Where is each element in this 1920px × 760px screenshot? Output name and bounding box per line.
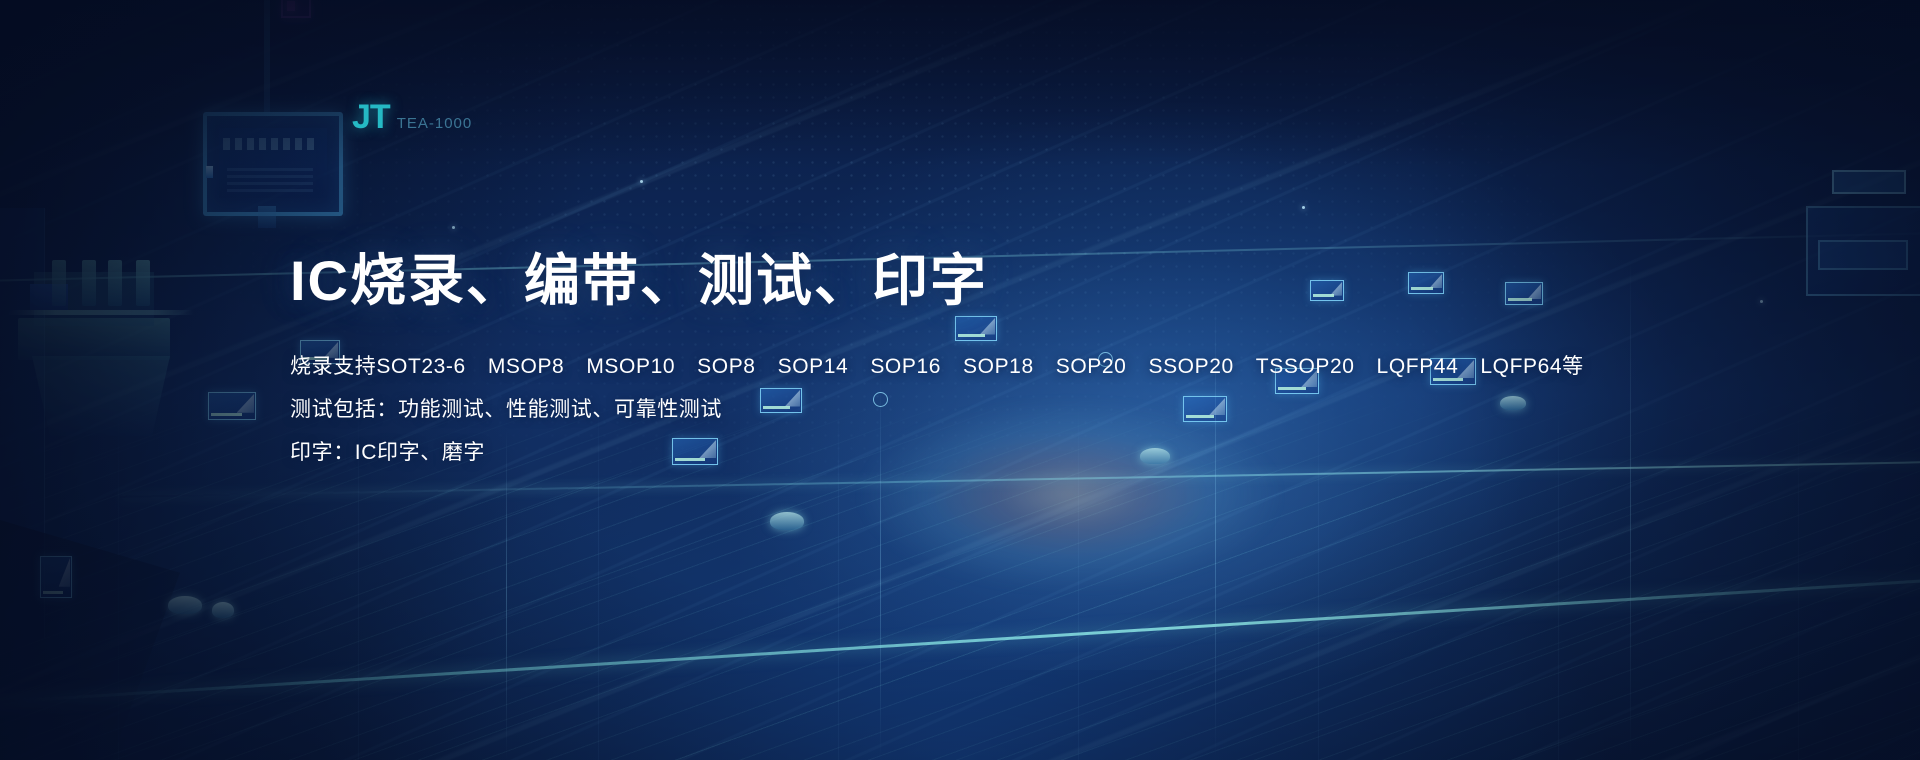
package-name: SOP20 [1056,355,1127,378]
hero-banner: JT TEA-1000 IC烧录、编带、测试、印字 烧录支持SOT23-6MSO… [0,0,1920,760]
floor-mount-pad [770,512,804,530]
machine-base [18,318,170,360]
spark-dot [452,226,455,229]
spark-dot [640,180,643,183]
logo-mark-jt: JT [352,100,390,134]
package-name: MSOP10 [586,355,675,378]
monitor-stand [258,206,276,228]
rack-device-bottom [1818,240,1908,270]
monitor-scanlines [227,168,313,194]
package-name: MSOP8 [488,355,565,378]
machine-cylinder-2 [82,260,96,306]
monitor-bar-graph [223,138,319,150]
sensor-lens-icon [287,1,295,11]
machine-blue-module [30,284,68,310]
chip-tray-icon [40,556,72,598]
burning-prefix: 烧录支持 [290,355,376,378]
package-name: SOP14 [778,355,849,378]
burning-support-line: 烧录支持SOT23-6MSOP8MSOP10SOP8SOP14SOP16SOP1… [290,356,1590,377]
right-equipment-rack [1806,206,1920,296]
package-name: SSOP20 [1148,355,1233,378]
floor-mount-pad [168,596,202,614]
machine-body [34,272,154,326]
machine-cylinder-3 [108,260,122,306]
machine-cylinder-1 [52,260,66,306]
left-wall-panel [0,208,45,638]
handler-machine [8,232,194,380]
monitor-screen [219,128,327,198]
page-title: IC烧录、编带、测试、印字 [290,250,1590,312]
package-name: LQFP44 [1377,355,1459,378]
package-list: SOT23-6MSOP8MSOP10SOP8SOP14SOP16SOP18SOP… [376,355,1583,378]
package-name: LQFP64等 [1480,355,1583,378]
machine-frame [26,356,176,436]
ceiling-sensor-device [281,0,311,18]
spark-dot [1302,206,1305,209]
control-monitor [203,112,343,216]
package-name: SOP16 [870,355,941,378]
brand-logo: JT TEA-1000 [352,100,472,134]
package-name: SOP8 [697,355,755,378]
testing-scope-line: 测试包括：功能测试、性能测试、可靠性测试 [290,399,1590,420]
banner-text-block: IC烧录、编带、测试、印字 烧录支持SOT23-6MSOP8MSOP10SOP8… [290,250,1590,485]
rack-device-top [1832,170,1906,194]
monitor-indicator-led [206,166,213,178]
logo-model-text: TEA-1000 [397,116,473,131]
left-floor-shadow [0,520,180,760]
column-guide-line [1630,260,1631,760]
floor-mount-pad [212,602,234,618]
marking-scope-line: 印字：IC印字、磨字 [290,442,1590,463]
chip-tray-icon [208,392,256,420]
glowing-floor-beam [0,577,1920,706]
machine-cylinder-4 [136,260,150,306]
package-name: TSSOP20 [1256,355,1355,378]
package-name: SOT23-6 [376,355,465,378]
spark-dot [1760,300,1763,303]
package-name: SOP18 [963,355,1034,378]
ceiling-mount-arm [264,0,270,116]
machine-rail [8,310,194,315]
